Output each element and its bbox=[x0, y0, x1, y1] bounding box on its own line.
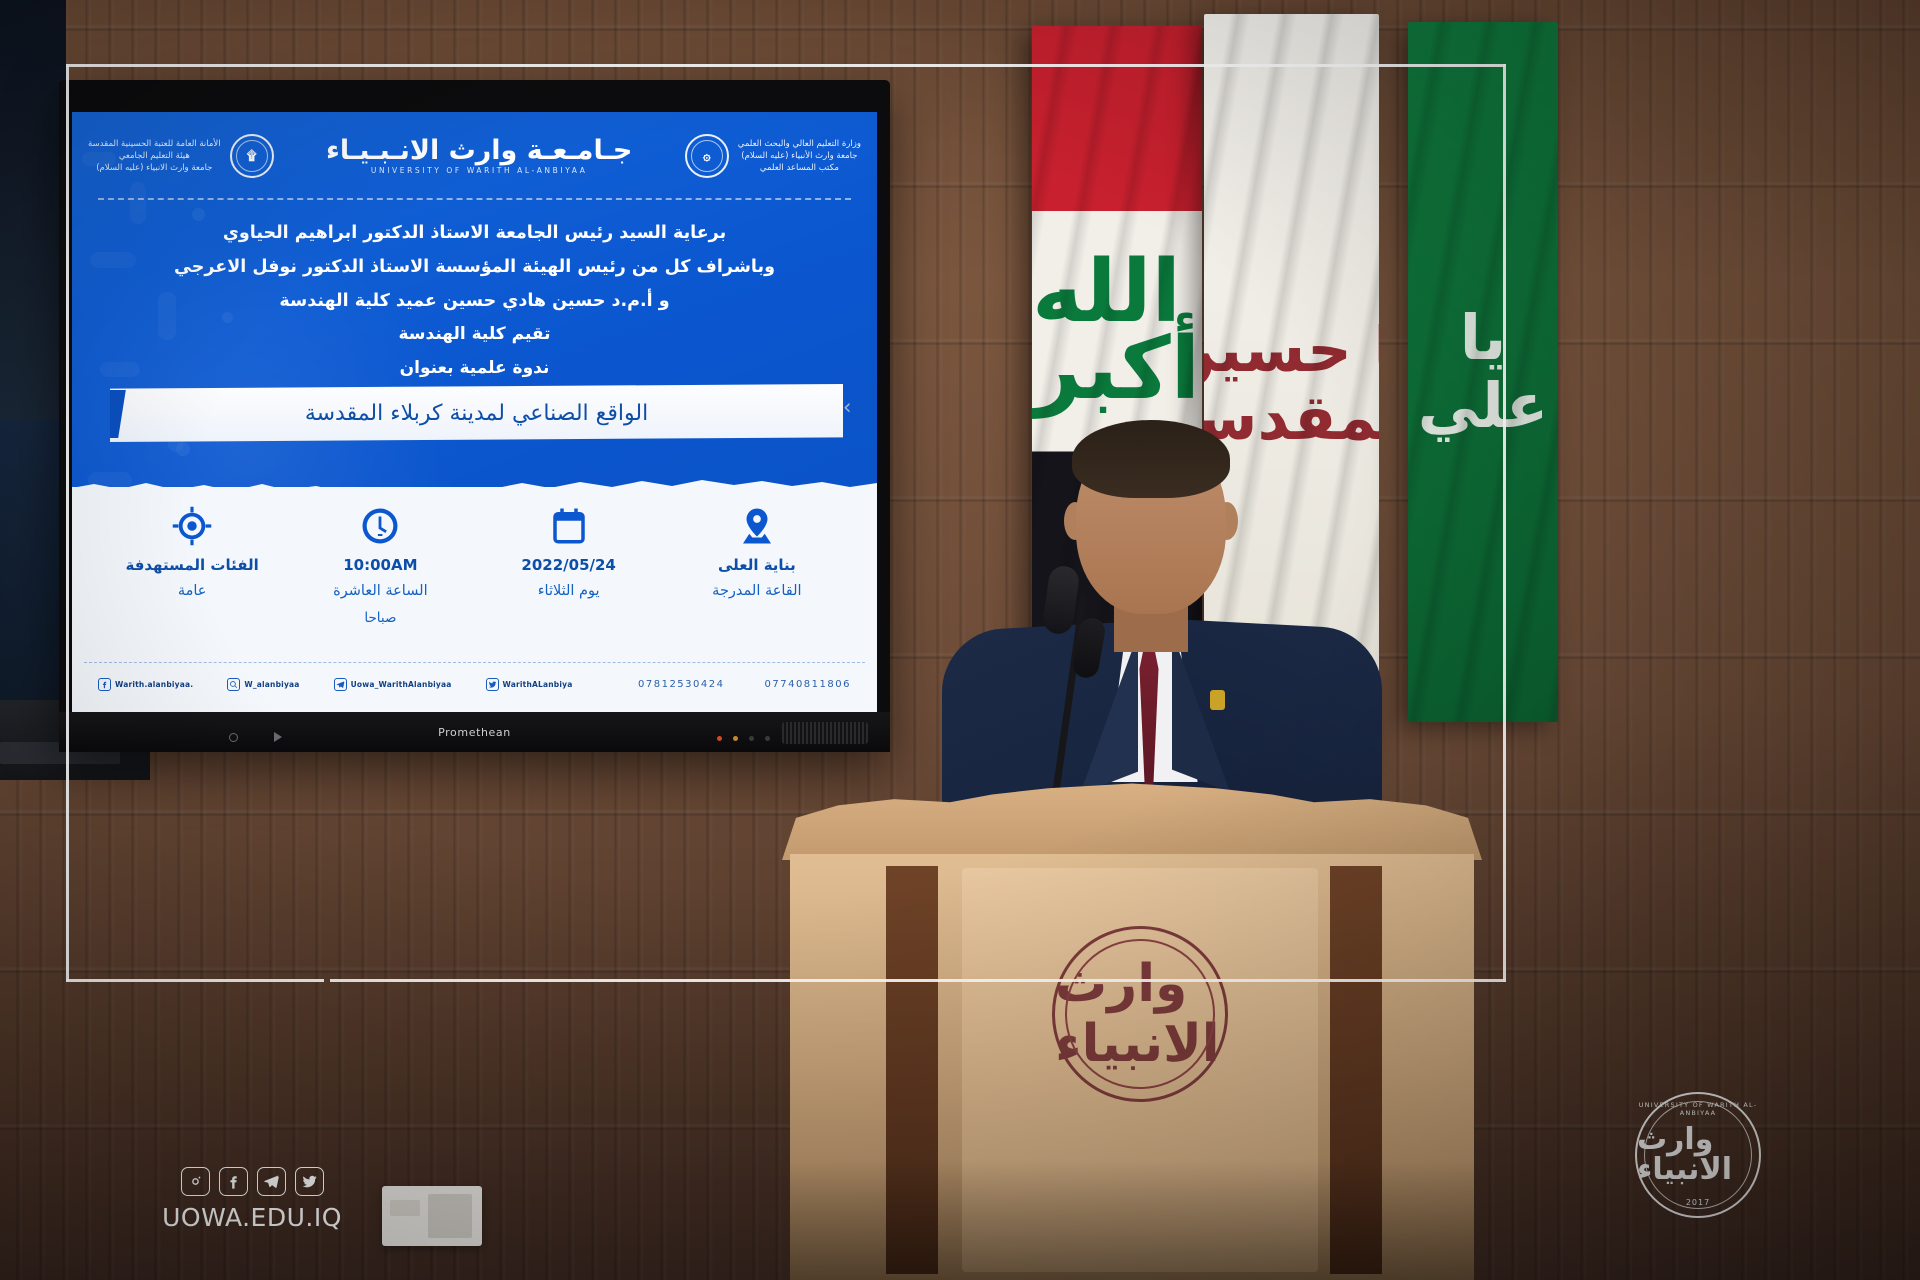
screenshot-root: الله أكبر يا حسين المقدسة يا علي bbox=[0, 0, 1920, 1280]
image-vignette bbox=[0, 0, 1920, 1280]
